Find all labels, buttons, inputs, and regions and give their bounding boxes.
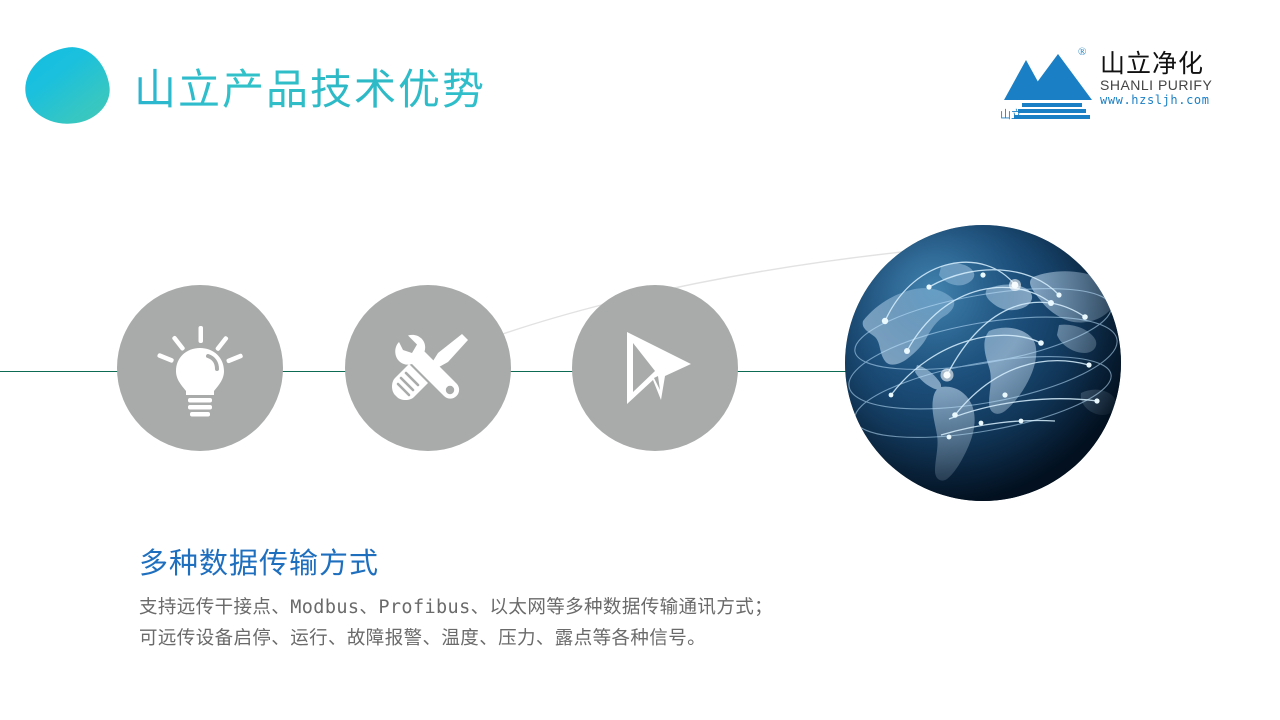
logo-text-block: 山立净化 SHANLI PURIFY www.hzsljh.com (1100, 50, 1220, 108)
network-globe-image (845, 225, 1121, 501)
section-body: 支持远传干接点、Modbus、Profibus、以太网等多种数据传输通讯方式； … (139, 592, 773, 654)
feature-icon-2[interactable] (345, 285, 511, 451)
feature-icon-1[interactable] (117, 285, 283, 451)
feature-icon-3[interactable] (572, 285, 738, 451)
section-heading: 多种数据传输方式 (139, 540, 379, 582)
tools-icon (376, 316, 480, 420)
company-logo: ® 山立 山立净化 SHANLI PURIFY www.hzsljh.com (1000, 46, 1218, 124)
paper-plane-icon (603, 316, 707, 420)
logo-mark-label: 山立 (1000, 106, 1022, 122)
logo-website: www.hzsljh.com (1100, 93, 1220, 108)
registered-trademark-icon: ® (1078, 46, 1086, 58)
lightbulb-icon (148, 316, 252, 420)
body-line-2: 可远传设备启停、运行、故障报警、温度、压力、露点等各种信号。 (139, 623, 773, 654)
logo-name-cn: 山立净化 (1100, 50, 1220, 77)
slide-canvas: 山立产品技术优势 ® 山立 山立净化 SHANLI PURIFY www.hzs… (0, 0, 1280, 720)
logo-name-en: SHANLI PURIFY (1100, 77, 1220, 93)
page-title: 山立产品技术优势 (134, 56, 486, 117)
body-line-1: 支持远传干接点、Modbus、Profibus、以太网等多种数据传输通讯方式； (139, 592, 773, 623)
decorative-blob (20, 43, 114, 130)
